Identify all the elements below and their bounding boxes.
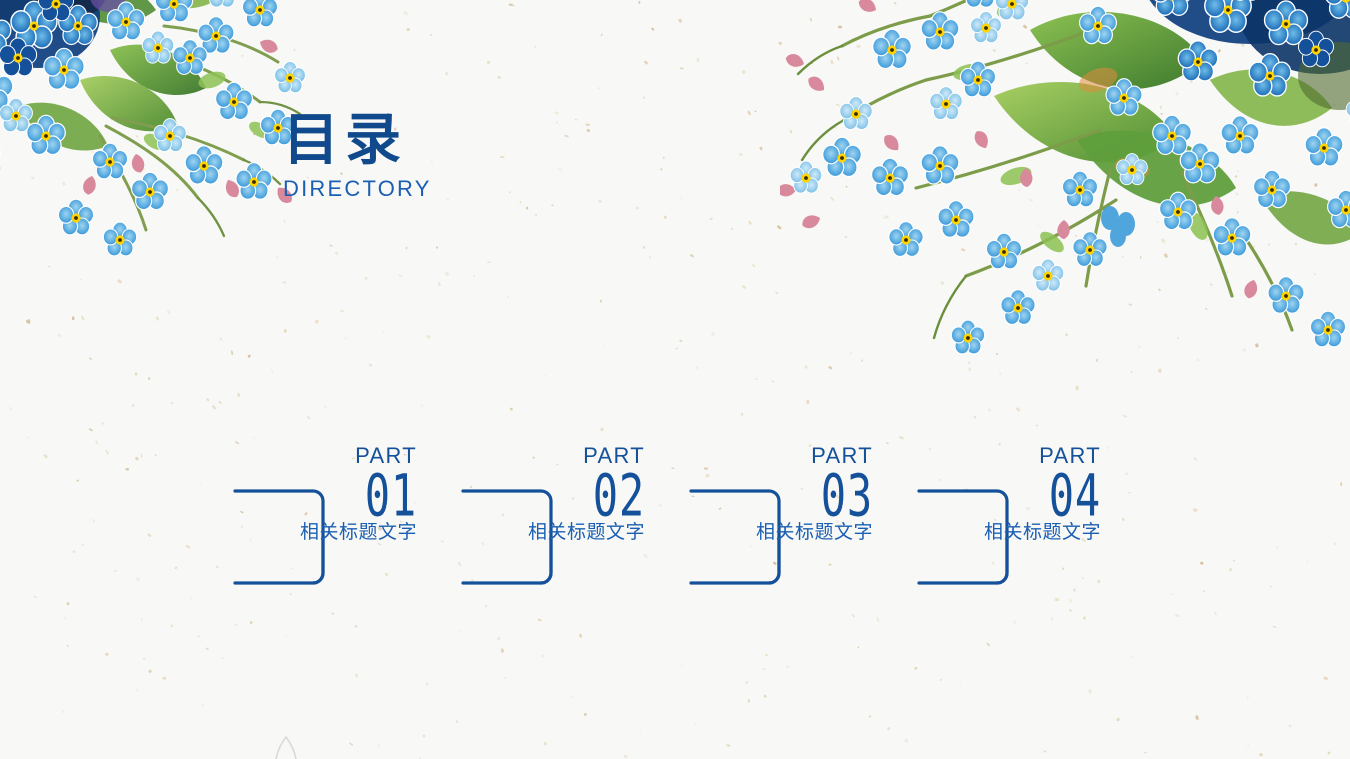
part-number: 04: [956, 467, 1101, 525]
part-text-block: PART03相关标题文字: [687, 445, 873, 545]
part-card-01[interactable]: PART01相关标题文字: [231, 445, 461, 595]
directory-parts-list: PART01相关标题文字PART02相关标题文字PART03相关标题文字PART…: [231, 445, 1151, 595]
page-title-en: DIRECTORY: [283, 178, 432, 200]
part-number: 02: [500, 467, 645, 525]
page-title-cn: 目录: [283, 113, 432, 169]
bottom-watermark-icon: [272, 735, 302, 759]
part-text-block: PART04相关标题文字: [915, 445, 1101, 545]
paper-speckle-texture: [0, 0, 1350, 759]
part-text-block: PART01相关标题文字: [231, 445, 417, 545]
floral-decoration-right: [780, 0, 1350, 420]
part-number: 01: [272, 467, 417, 525]
page-title-block: 目录 DIRECTORY: [283, 113, 432, 200]
part-text-block: PART02相关标题文字: [459, 445, 645, 545]
part-card-04[interactable]: PART04相关标题文字: [915, 445, 1145, 595]
floral-decoration-left: [0, 0, 320, 290]
part-card-02[interactable]: PART02相关标题文字: [459, 445, 689, 595]
part-card-03[interactable]: PART03相关标题文字: [687, 445, 917, 595]
slide-canvas: 目录 DIRECTORY PART01相关标题文字PART02相关标题文字PAR…: [0, 0, 1350, 759]
part-number: 03: [728, 467, 873, 525]
